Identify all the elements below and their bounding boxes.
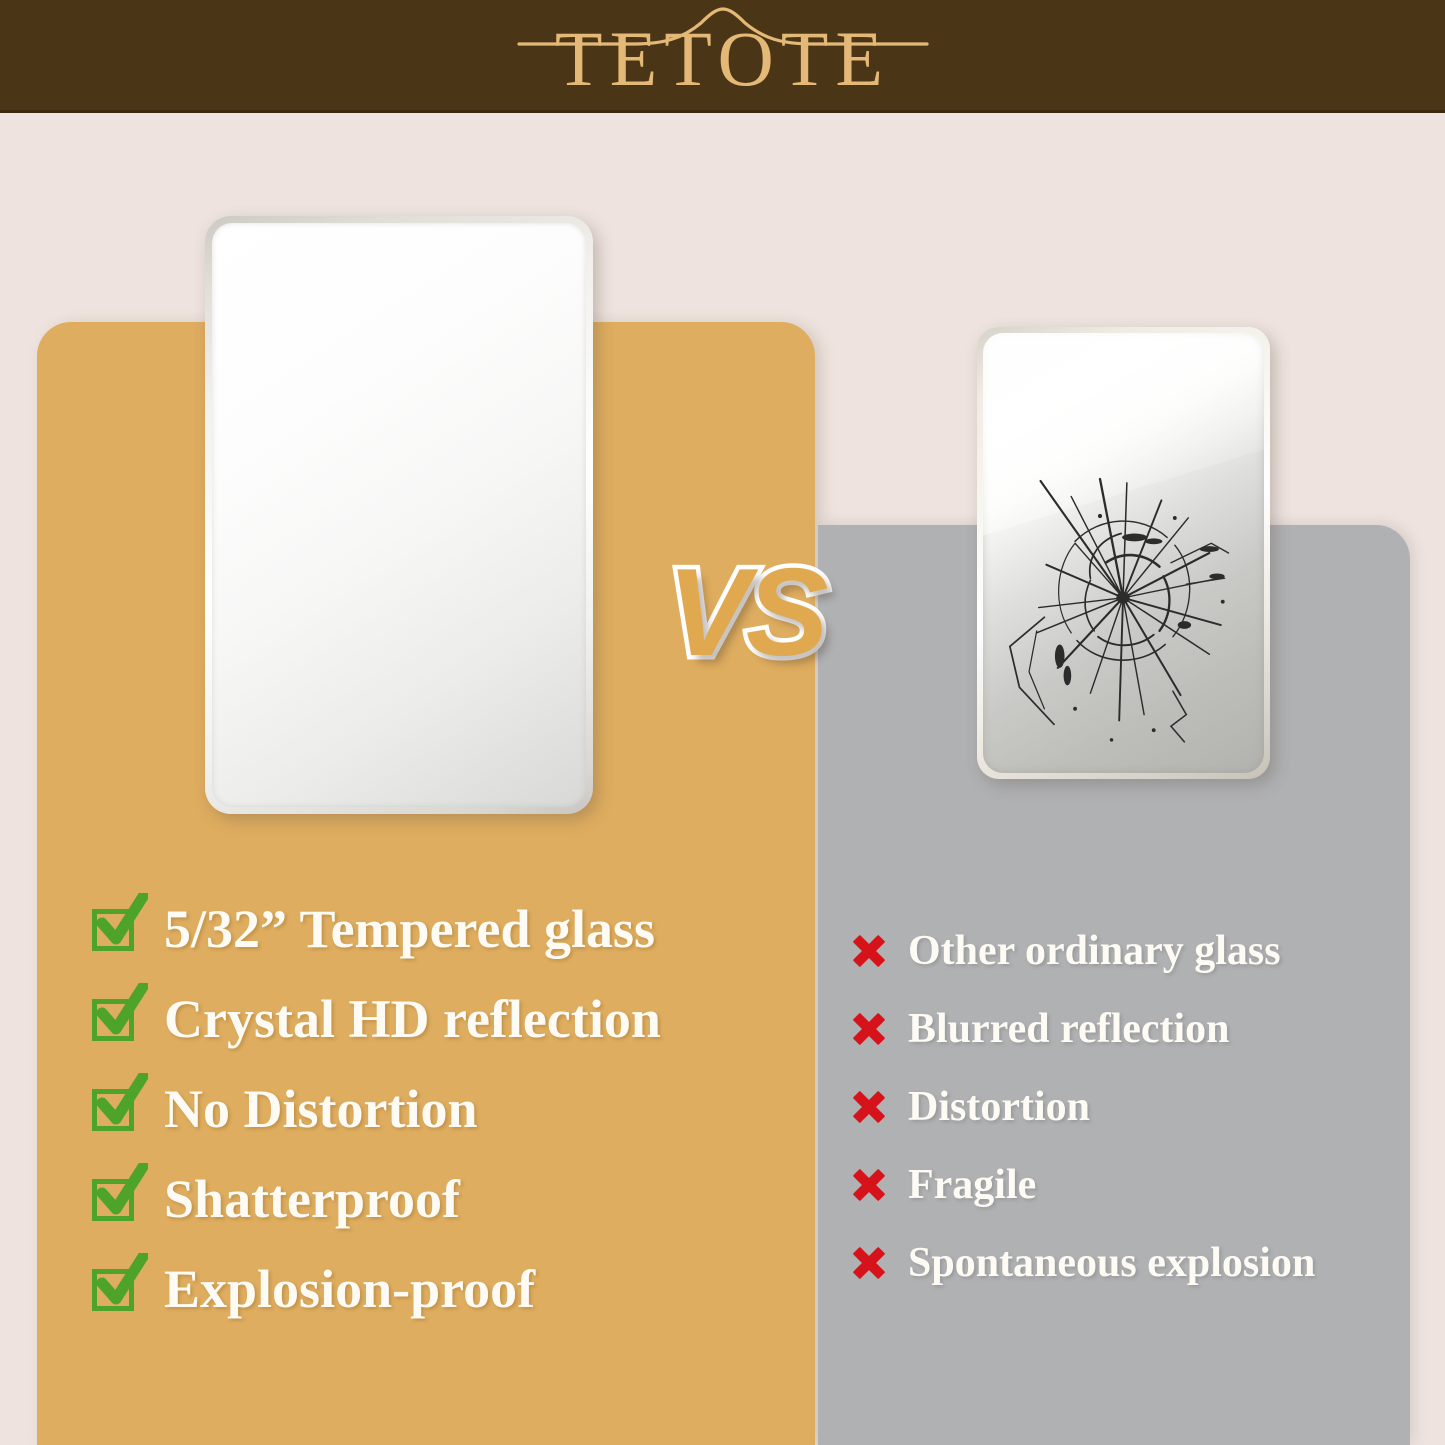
pro-feature-label: 5/32” Tempered glass xyxy=(164,902,655,956)
list-item: Shatterproof xyxy=(92,1154,792,1244)
red-x-icon xyxy=(852,1168,886,1202)
brand-header-band: TETOTE xyxy=(0,0,1445,113)
red-x-icon xyxy=(852,1090,886,1124)
list-item: No Distortion xyxy=(92,1064,792,1154)
con-feature-label: Distortion xyxy=(908,1086,1090,1128)
crack-pattern-icon xyxy=(983,333,1264,773)
list-item: Spontaneous explosion xyxy=(852,1224,1412,1302)
list-item: 5/32” Tempered glass xyxy=(92,884,792,974)
pro-feature-label: Crystal HD reflection xyxy=(164,992,661,1046)
vs-badge: VS xyxy=(667,551,824,675)
red-x-icon xyxy=(852,1012,886,1046)
red-x-icon xyxy=(852,934,886,968)
green-checkbox-icon xyxy=(92,1265,140,1313)
green-checkbox-icon xyxy=(92,995,140,1043)
green-checkbox-icon xyxy=(92,905,140,953)
con-feature-label: Blurred reflection xyxy=(908,1008,1230,1050)
con-feature-label: Spontaneous explosion xyxy=(908,1242,1315,1284)
infographic-canvas: TETOTE xyxy=(0,0,1445,1445)
broken-ordinary-glass-mirror-image xyxy=(977,327,1270,779)
list-item: Other ordinary glass xyxy=(852,912,1412,990)
brand-lockup: TETOTE xyxy=(513,4,933,108)
list-item: Fragile xyxy=(852,1146,1412,1224)
list-item: Crystal HD reflection xyxy=(92,974,792,1064)
list-item: Distortion xyxy=(852,1068,1412,1146)
red-x-icon xyxy=(852,1246,886,1280)
list-item: Blurred reflection xyxy=(852,990,1412,1068)
con-feature-list: Other ordinary glass Blurred reflection … xyxy=(852,912,1412,1302)
pro-feature-label: Shatterproof xyxy=(164,1172,460,1226)
pro-feature-label: Explosion-proof xyxy=(164,1262,535,1316)
pro-feature-list: 5/32” Tempered glass Crystal HD reflecti… xyxy=(92,884,792,1334)
list-item: Explosion-proof xyxy=(92,1244,792,1334)
green-checkbox-icon xyxy=(92,1085,140,1133)
green-checkbox-icon xyxy=(92,1175,140,1223)
brand-name: TETOTE xyxy=(513,20,933,98)
mirror-glass-surface xyxy=(212,223,586,807)
pro-feature-label: No Distortion xyxy=(164,1082,477,1136)
con-feature-label: Other ordinary glass xyxy=(908,930,1281,972)
broken-glass-surface xyxy=(983,333,1264,773)
tempered-glass-mirror-image xyxy=(205,216,593,814)
con-feature-label: Fragile xyxy=(908,1164,1036,1206)
